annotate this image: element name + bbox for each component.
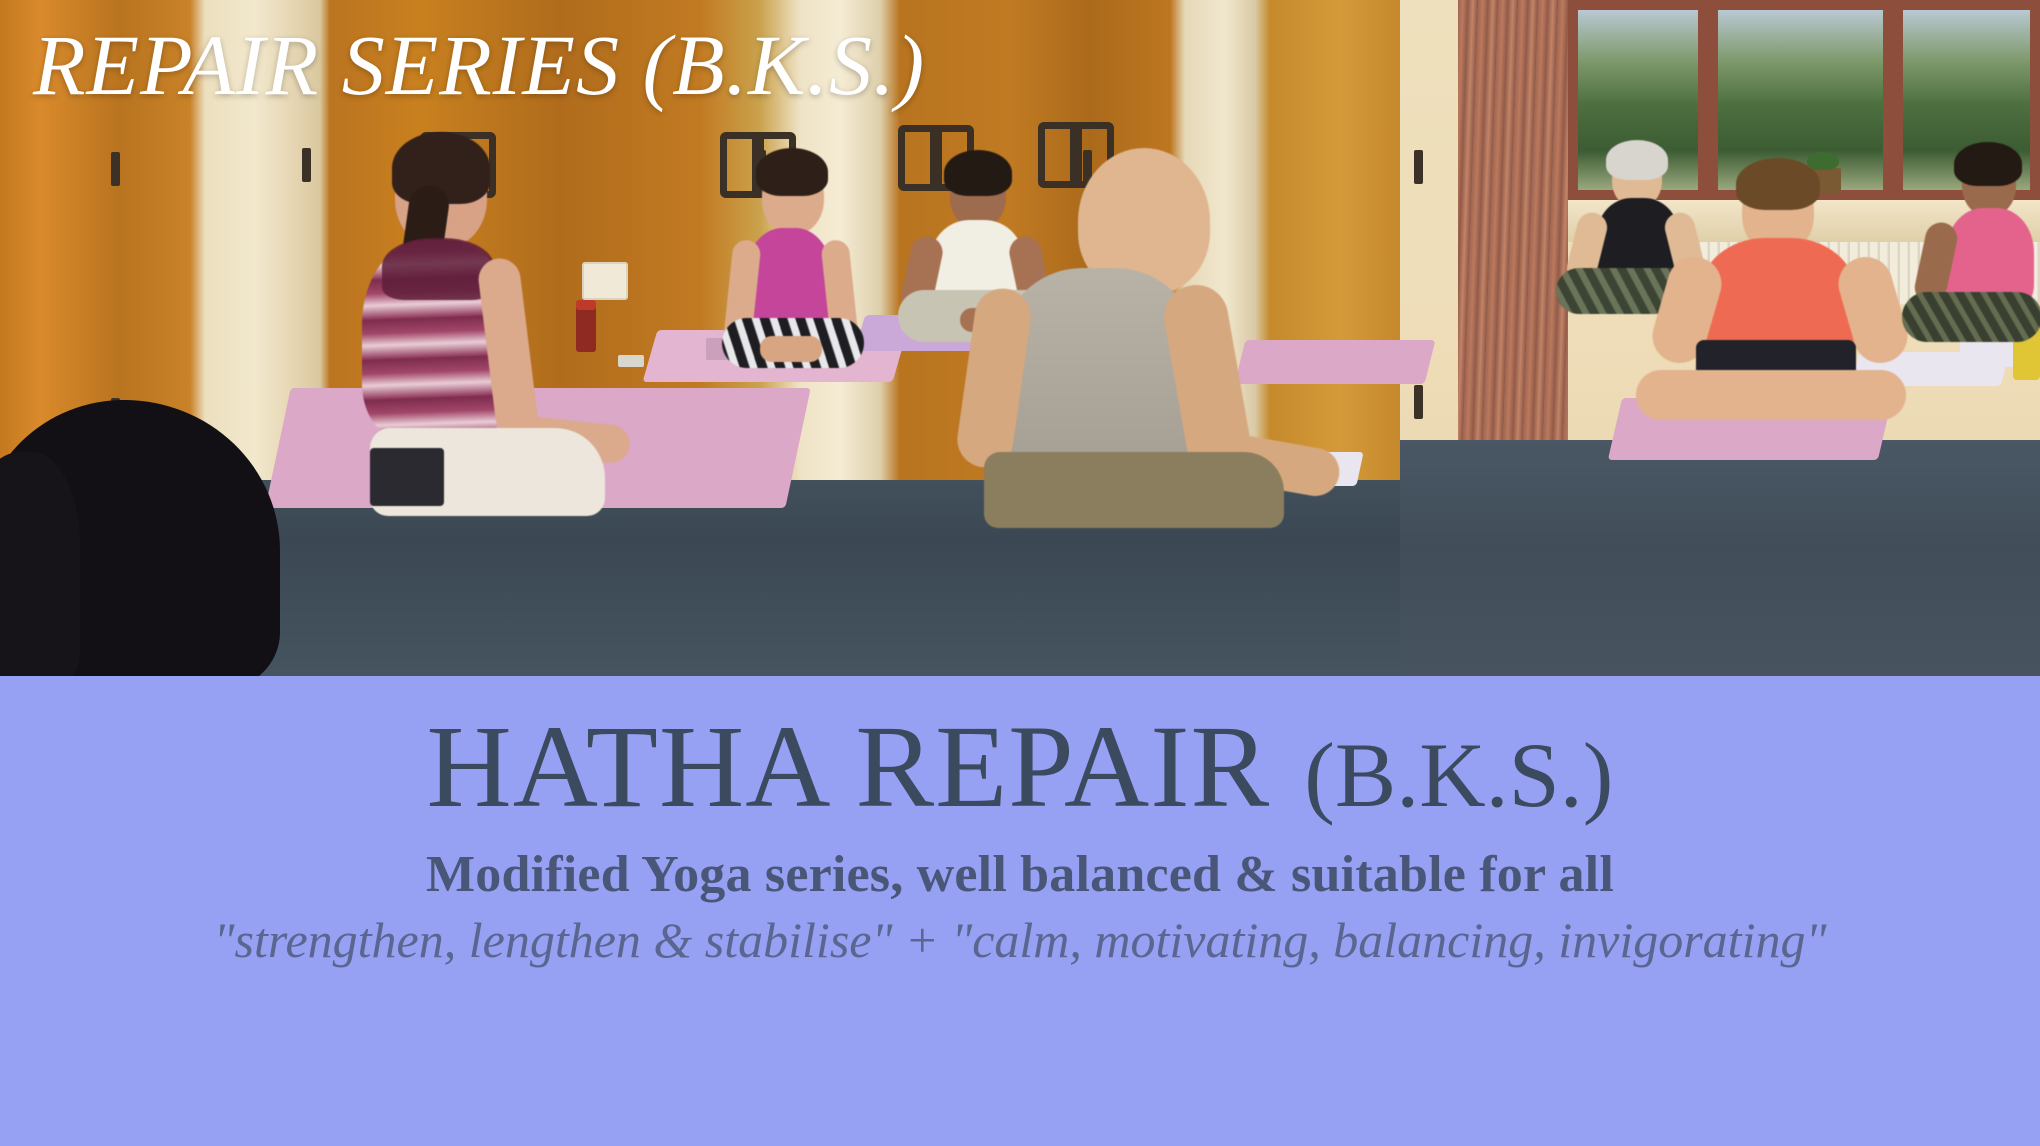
water-bottle — [576, 306, 596, 352]
hero-photo: REPAIR SERIES (B.K.S.) — [0, 0, 2040, 676]
person-foreground-hair — [0, 452, 80, 676]
poster: REPAIR SERIES (B.K.S.) HATHA REPAIR(B.K.… — [0, 0, 2040, 1146]
hair — [756, 148, 828, 196]
carpet-floor-right — [1400, 440, 2040, 676]
door-hinge — [302, 148, 311, 182]
yoga-block — [370, 448, 444, 506]
page-title: HATHA REPAIR(B.K.S.) — [0, 676, 2040, 826]
leggings-camo — [1902, 292, 2040, 342]
door-hinge — [111, 152, 120, 186]
info-panel: HATHA REPAIR(B.K.S.) Modified Yoga serie… — [0, 676, 2040, 1146]
bottle-cap — [576, 300, 596, 310]
phone-on-floor — [618, 355, 644, 367]
wall-socket — [582, 262, 628, 300]
door-hinge — [1414, 385, 1423, 419]
hair-grey — [1606, 140, 1668, 180]
tagline: "strengthen, lengthen & stabilise" + "ca… — [0, 913, 2040, 968]
yoga-mat — [1235, 340, 1436, 384]
hair — [944, 150, 1012, 196]
subtitle: Modified Yoga series, well balanced & su… — [0, 846, 2040, 903]
curtain — [1458, 0, 1568, 480]
legs — [1636, 370, 1906, 420]
shorts — [984, 452, 1284, 528]
lace-yoke — [382, 238, 494, 300]
feet — [760, 336, 822, 362]
hair — [1954, 142, 2022, 186]
hair — [1736, 158, 1820, 210]
headline-main: HATHA REPAIR — [427, 701, 1271, 832]
door-hinge — [1414, 150, 1423, 184]
headline-suffix: (B.K.S.) — [1304, 724, 1613, 826]
overlay-title: REPAIR SERIES (B.K.S.) — [33, 16, 925, 115]
